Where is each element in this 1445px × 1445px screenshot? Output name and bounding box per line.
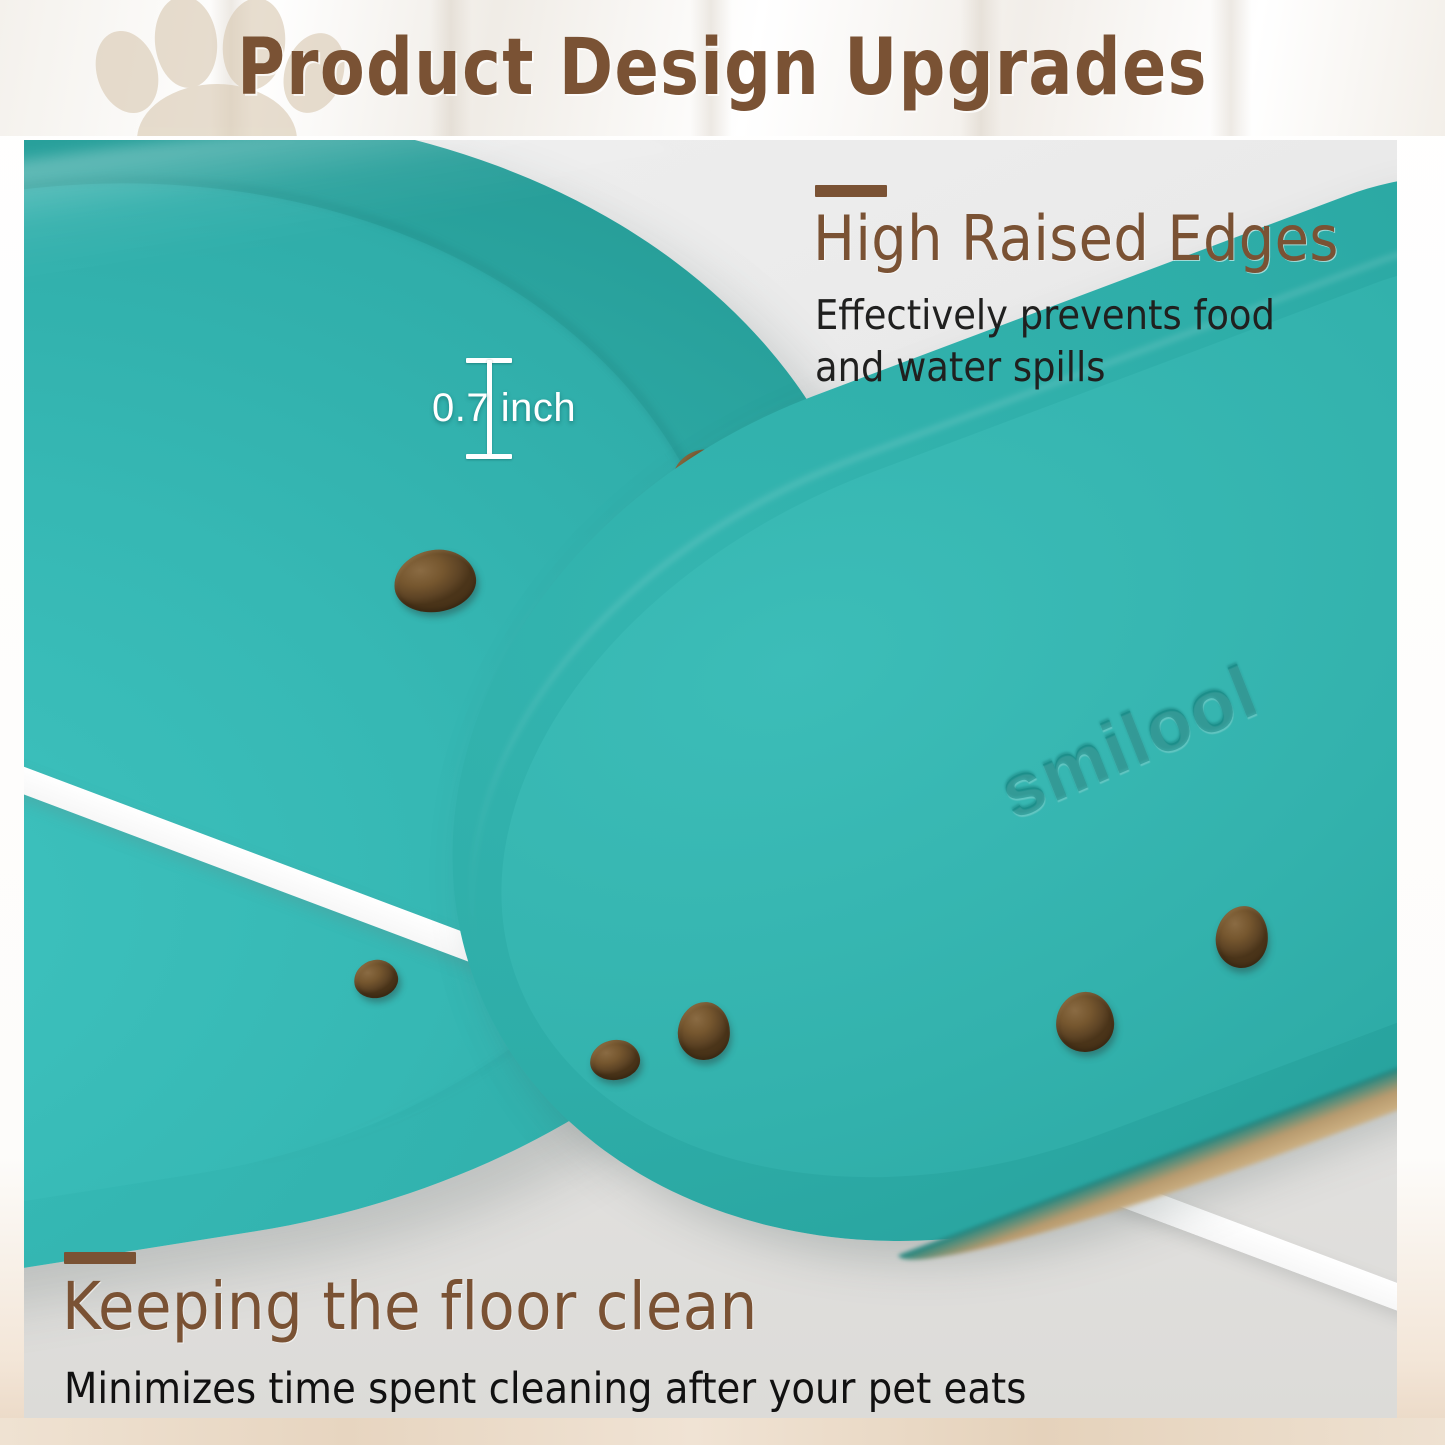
banner: Product Design Upgrades (0, 0, 1445, 136)
dimension-callout: 0.7 inch (436, 358, 596, 478)
feature-heading-high-raised-edges: High Raised Edges (813, 202, 1339, 275)
product-infographic: Product Design Upgrades smilool (0, 0, 1445, 1445)
feature-body-high-raised-edges: Effectively prevents food and water spil… (815, 290, 1275, 393)
feature-body-keeping-the-floor-clean: Minimizes time spent cleaning after your… (64, 1362, 1026, 1416)
accent-dash (815, 185, 887, 197)
bottom-accent-strip (0, 1418, 1445, 1445)
page-title: Product Design Upgrades (51, 0, 1395, 136)
dimension-tick-bottom (466, 454, 512, 459)
accent-dash (64, 1252, 136, 1264)
feature-body-line: Effectively prevents food (815, 290, 1275, 342)
feature-heading-keeping-the-floor-clean: Keeping the floor clean (62, 1268, 758, 1345)
feature-body-line: and water spills (815, 342, 1275, 394)
dimension-label: 0.7 inch (432, 386, 576, 431)
product-photo-panel: smilool 0.7 inch High Raised Edges Effec… (24, 140, 1397, 1418)
